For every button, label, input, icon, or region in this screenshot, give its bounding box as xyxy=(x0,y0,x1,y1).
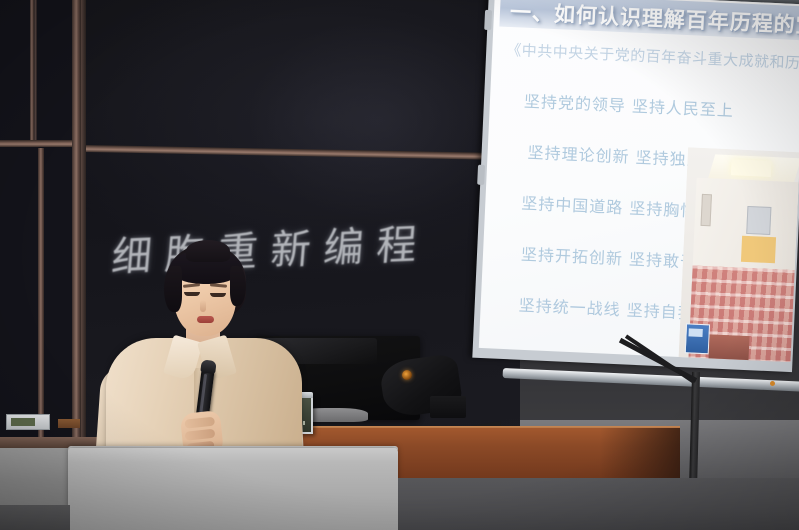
person-eye-right xyxy=(210,293,226,297)
blackboard-rail-horizontal-left xyxy=(0,140,72,147)
blackboard-sheen-secondary xyxy=(250,20,510,220)
photo-side-screen xyxy=(685,323,710,354)
photo-side-screen-label xyxy=(688,328,702,337)
blackboard-rail-vertical-3 xyxy=(34,0,37,140)
slide-subtitle: 《中共中央关于党的百年奋斗重大成就和历史经验 xyxy=(506,39,799,75)
person-eye-left xyxy=(184,292,200,296)
blackboard-panel-edge xyxy=(81,0,86,438)
roller-bar-knob xyxy=(770,381,775,386)
photo-stage-banner xyxy=(741,236,776,264)
person-finger xyxy=(184,417,215,429)
small-device-screen xyxy=(11,418,35,426)
floor-right xyxy=(398,478,799,530)
person-lips xyxy=(197,316,214,323)
blackboard-rail-vertical-4 xyxy=(38,148,44,438)
screen-clip-lower xyxy=(477,165,485,185)
person-finger xyxy=(185,429,216,441)
speaker-person xyxy=(90,240,320,470)
floor-left xyxy=(0,505,70,530)
microphone-head-icon xyxy=(200,359,216,374)
projector-lens-icon xyxy=(402,370,412,380)
person-hair-side-left xyxy=(164,266,182,312)
small-wood-block xyxy=(58,419,80,428)
lecture-podium xyxy=(68,448,398,530)
photo-wall-frame xyxy=(746,206,771,235)
slide-inset-photo xyxy=(678,147,799,362)
small-device-box xyxy=(6,414,50,430)
photo-ceiling-light xyxy=(731,159,772,177)
person-hair-bun xyxy=(186,240,230,262)
desk-equipment-block xyxy=(430,396,466,418)
person-hair-side-right xyxy=(230,266,246,306)
person-nose xyxy=(200,300,206,312)
photo-podium xyxy=(708,334,749,362)
slide-title: 一、如何认识理解百年历程的宝贵 xyxy=(509,0,799,41)
blackboard-rail-vertical-1 xyxy=(72,0,81,438)
classroom-scene-photo: 细胞重新编程 一、如何认识理解百年历程的宝贵 《中共中央关于党的百年奋斗重大成就… xyxy=(0,0,799,530)
projection-screen: 一、如何认识理解百年历程的宝贵 《中共中央关于党的百年奋斗重大成就和历史经验 坚… xyxy=(472,0,799,384)
photo-door xyxy=(701,194,712,226)
slide-bullet-line: 坚持党的领导 坚持人民至上 xyxy=(524,88,799,126)
desk-shadow-right xyxy=(600,428,680,478)
screen-surface: 一、如何认识理解百年历程的宝贵 《中共中央关于党的百年奋斗重大成就和历史经验 坚… xyxy=(479,0,799,362)
screen-clip-upper xyxy=(484,10,492,30)
